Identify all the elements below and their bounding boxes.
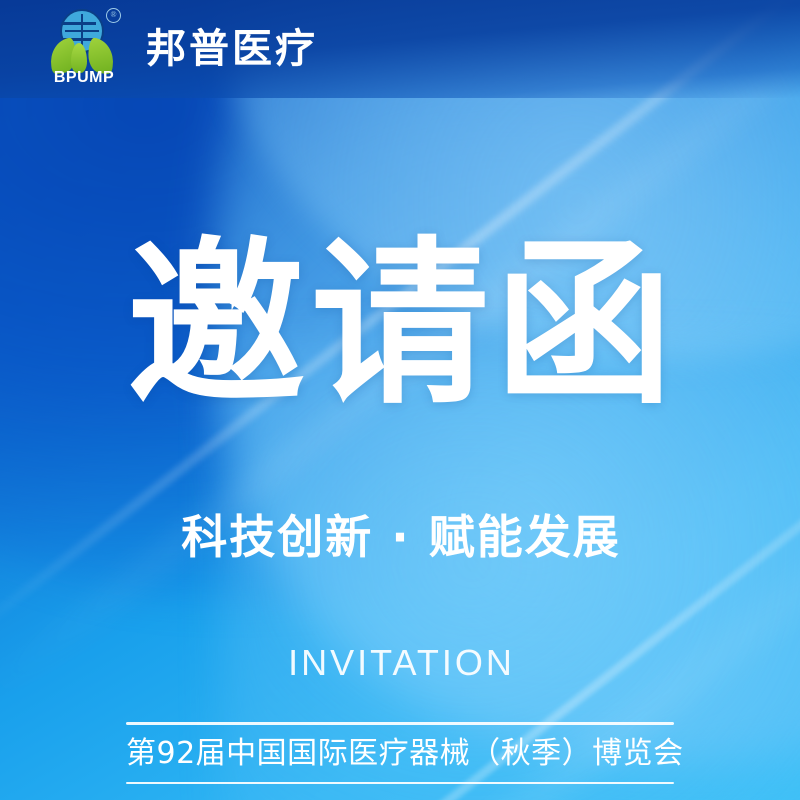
page-title: 邀请函 (0, 236, 800, 414)
company-logo: ® BPUMP (44, 7, 124, 91)
poster-content: 邀请函 科技创新 · 赋能发展 INVITATION (0, 0, 800, 800)
header-bar: ® BPUMP 邦普医疗 (0, 0, 800, 98)
page-title-english: INVITATION (0, 645, 800, 681)
page-subtitle: 科技创新 · 赋能发展 (0, 510, 800, 565)
logo-wordmark: BPUMP (44, 69, 124, 87)
registered-trademark-icon: ® (106, 8, 121, 23)
invitation-poster: ® BPUMP 邦普医疗 邀请函 科技创新 · 赋能发展 INVITATION … (0, 0, 800, 800)
brand-name: 邦普医疗 (146, 29, 318, 69)
globe-grid-bar-top (62, 22, 96, 25)
